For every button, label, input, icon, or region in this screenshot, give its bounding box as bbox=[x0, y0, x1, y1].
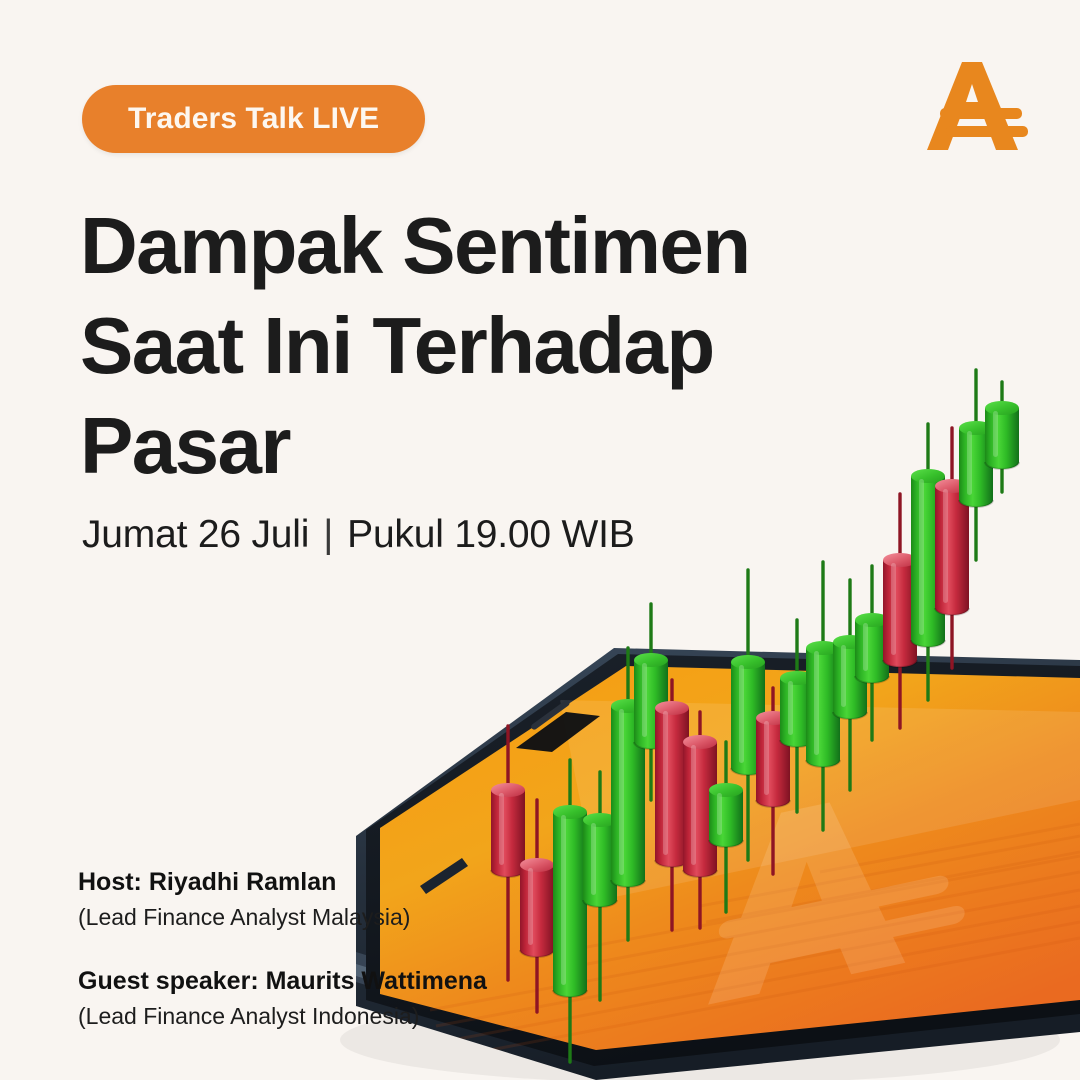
guest-name: Guest speaker: Maurits Wattimena bbox=[78, 965, 548, 997]
headline-line-2: Saat Ini Terhadap bbox=[80, 296, 840, 396]
headline-line-3: Pasar bbox=[80, 396, 840, 496]
guest-role: (Lead Finance Analyst Indonesia) bbox=[78, 1000, 548, 1032]
page-title: Dampak Sentimen Saat Ini Terhadap Pasar bbox=[80, 196, 840, 496]
candle-10 bbox=[731, 570, 765, 860]
candle-5 bbox=[611, 648, 645, 940]
event-datetime: Jumat 26 Juli | Pukul 19.00 WIB bbox=[82, 513, 635, 557]
candle-14 bbox=[833, 580, 867, 790]
event-time: Pukul 19.00 WIB bbox=[347, 513, 634, 557]
candle-11 bbox=[756, 688, 790, 874]
datetime-separator: | bbox=[323, 513, 333, 557]
candle-17 bbox=[911, 424, 945, 700]
host-role: (Lead Finance Analyst Malaysia) bbox=[78, 901, 548, 933]
candle-7 bbox=[655, 680, 689, 930]
candle-16 bbox=[883, 494, 917, 728]
candle-18 bbox=[935, 428, 969, 668]
poster-canvas: Traders Talk LIVE Dampak Sentimen Saat I… bbox=[0, 0, 1080, 1080]
candle-8 bbox=[683, 712, 717, 928]
candle-19 bbox=[959, 370, 993, 560]
live-badge-label: Traders Talk LIVE bbox=[128, 102, 379, 136]
credit-host: Host: Riyadhi Ramlan (Lead Finance Analy… bbox=[78, 866, 548, 933]
speaker-credits: Host: Riyadhi Ramlan (Lead Finance Analy… bbox=[78, 866, 548, 1032]
candle-3 bbox=[553, 760, 587, 1062]
headline-line-1: Dampak Sentimen bbox=[80, 196, 840, 296]
candle-9 bbox=[709, 742, 743, 912]
host-name: Host: Riyadhi Ramlan bbox=[78, 866, 548, 898]
octa-a-logo-icon bbox=[926, 58, 1030, 158]
event-date: Jumat 26 Juli bbox=[82, 513, 309, 557]
candle-15 bbox=[855, 566, 889, 740]
candle-6 bbox=[634, 604, 668, 800]
candle-20 bbox=[985, 382, 1019, 492]
credit-guest: Guest speaker: Maurits Wattimena (Lead F… bbox=[78, 965, 548, 1032]
candle-13 bbox=[806, 562, 840, 830]
candle-4 bbox=[583, 772, 617, 1000]
live-badge: Traders Talk LIVE bbox=[82, 85, 425, 153]
candle-12 bbox=[780, 620, 814, 812]
